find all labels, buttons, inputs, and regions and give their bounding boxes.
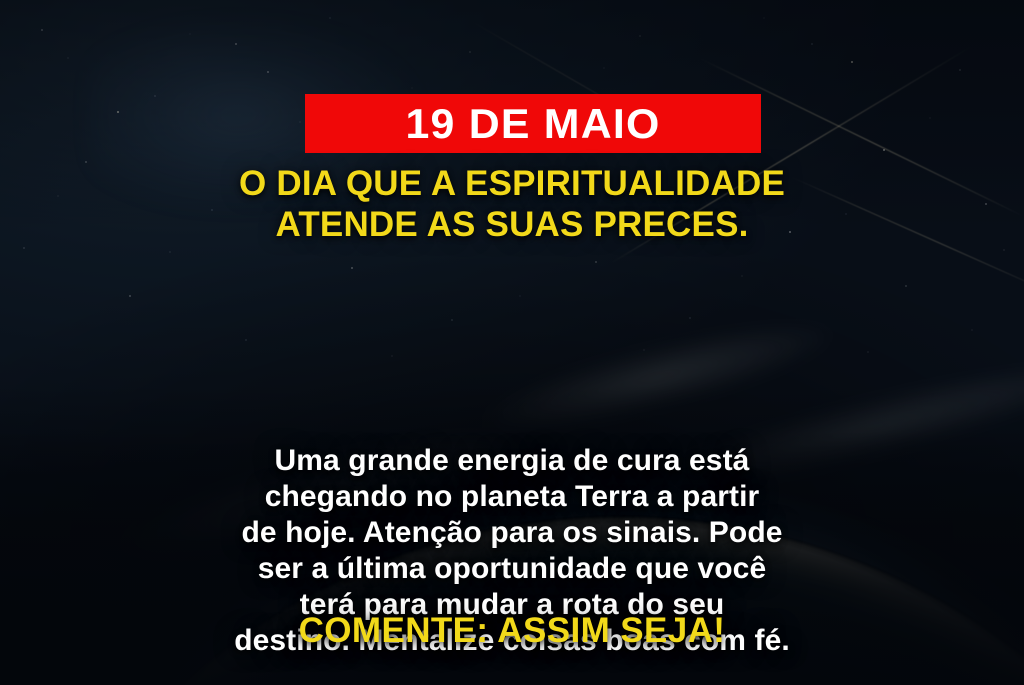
date-banner: 19 DE MAIO <box>305 94 761 153</box>
call-to-action-label: COMENTE: ASSIM SEJA! <box>299 611 726 650</box>
poster-canvas: 19 DE MAIO O DIA QUE A ESPIRITUALIDADE A… <box>0 0 1024 685</box>
body-line-2: chegando no planeta Terra a partir <box>72 479 952 515</box>
poster-content: 19 DE MAIO O DIA QUE A ESPIRITUALIDADE A… <box>0 0 1024 685</box>
body-line-4: ser a última oportunidade que você <box>72 551 952 587</box>
body-line-1: Uma grande energia de cura está <box>72 443 952 479</box>
call-to-action: COMENTE: ASSIM SEJA! <box>0 612 1024 651</box>
headline: O DIA QUE A ESPIRITUALIDADE ATENDE AS SU… <box>0 164 1024 246</box>
body-line-3: de hoje. Atenção para os sinais. Pode <box>72 515 952 551</box>
headline-line-1: O DIA QUE A ESPIRITUALIDADE <box>0 164 1024 205</box>
headline-line-2: ATENDE AS SUAS PRECES. <box>0 205 1024 246</box>
date-banner-label: 19 DE MAIO <box>405 103 660 145</box>
